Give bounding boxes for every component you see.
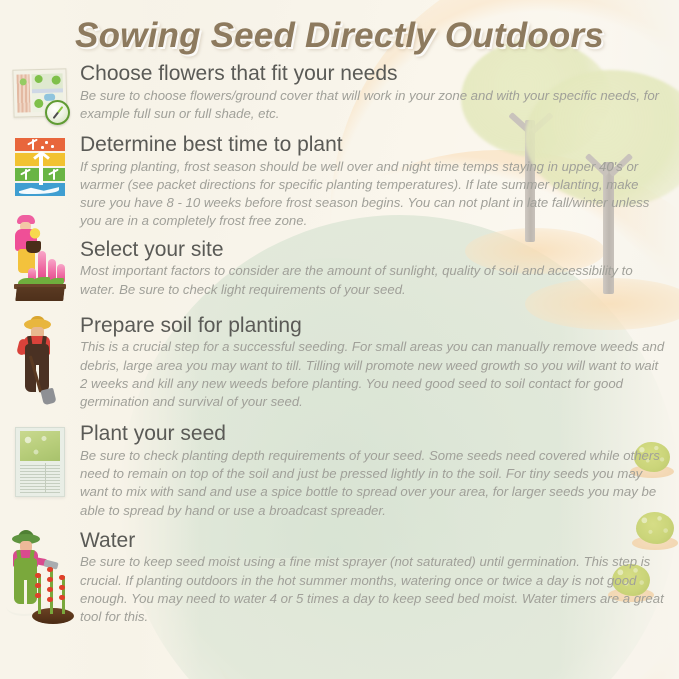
step-item-water: Water Be sure to keep seed moist using a…	[0, 530, 679, 627]
step-icon-cell	[0, 134, 80, 198]
four-seasons-icon	[15, 138, 65, 198]
step-body: Be sure to check planting depth requirem…	[80, 447, 665, 520]
garden-plan-compass-icon	[11, 67, 69, 123]
step-body: Be sure to keep seed moist using a fine …	[80, 553, 665, 626]
steps-list: Choose flowers that fit your needs Be su…	[0, 60, 679, 626]
step-heading: Prepare soil for planting	[80, 315, 665, 338]
step-body: Be sure to choose flowers/ground cover t…	[80, 87, 665, 123]
step-body: This is a crucial step for a successful …	[80, 338, 665, 411]
step-icon-cell	[0, 63, 80, 123]
step-icon-cell	[0, 530, 80, 624]
infographic-poster: Sowing Seed Directly Outdoors Choose flo…	[0, 0, 679, 679]
step-text-cell: Determine best time to plant If spring p…	[80, 134, 679, 231]
gardener-with-shovel-icon	[14, 319, 66, 407]
step-heading: Water	[80, 530, 665, 553]
step-text-cell: Choose flowers that fit your needs Be su…	[80, 63, 679, 123]
step-heading: Plant your seed	[80, 423, 665, 446]
step-icon-cell	[0, 423, 80, 497]
step-text-cell: Select your site Most important factors …	[80, 239, 679, 299]
step-item-determine-time: Determine best time to plant If spring p…	[0, 134, 679, 231]
step-icon-cell	[0, 239, 80, 301]
step-heading: Select your site	[80, 239, 665, 262]
step-item-select-site: Select your site Most important factors …	[0, 239, 679, 301]
step-heading: Determine best time to plant	[80, 134, 665, 157]
step-icon-cell	[0, 315, 80, 407]
page-title: Sowing Seed Directly Outdoors	[0, 16, 679, 56]
gardener-with-flowers-icon	[8, 215, 72, 301]
step-text-cell: Prepare soil for planting This is a cruc…	[80, 315, 679, 412]
step-item-plant-seed: Plant your seed Be sure to check plantin…	[0, 423, 679, 520]
step-heading: Choose flowers that fit your needs	[80, 63, 665, 86]
gardener-watering-icon	[4, 534, 76, 624]
seed-packet-icon	[15, 427, 65, 497]
step-item-prepare-soil: Prepare soil for planting This is a cruc…	[0, 315, 679, 412]
step-item-choose-flowers: Choose flowers that fit your needs Be su…	[0, 63, 679, 123]
step-text-cell: Water Be sure to keep seed moist using a…	[80, 530, 679, 627]
step-body: Most important factors to consider are t…	[80, 262, 665, 298]
step-body: If spring planting, frost season should …	[80, 158, 665, 231]
step-text-cell: Plant your seed Be sure to check plantin…	[80, 423, 679, 520]
